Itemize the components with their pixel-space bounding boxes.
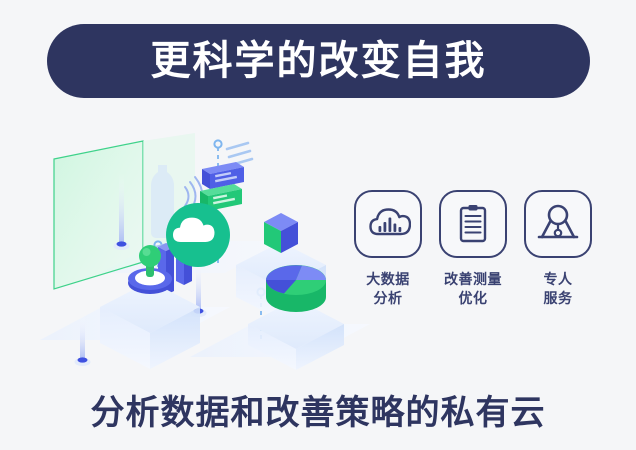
page-title: 更科学的改变自我 [151, 41, 487, 81]
feature-label-line2: 服务 [544, 289, 573, 308]
feature-label-line2: 优化 [444, 289, 502, 308]
glass-pedestal-left [100, 281, 200, 369]
feature-label-big-data: 大数据 分析 [366, 270, 410, 308]
page-tagline: 分析数据和改善策略的私有云 [0, 385, 636, 434]
feature-item-support[interactable]: 专人 服务 [522, 190, 594, 330]
feature-label-line1: 大数据 [366, 270, 410, 289]
data-tag-blue [202, 162, 244, 189]
feature-label-line1: 专人 [544, 270, 573, 289]
feature-label-support: 专人 服务 [544, 270, 573, 308]
feature-badge-measurement[interactable] [439, 190, 507, 258]
support-person-icon [535, 201, 581, 247]
header-banner: 更科学的改变自我 [47, 24, 590, 98]
feature-item-measurement[interactable]: 改善测量 优化 [437, 190, 509, 330]
poster-canvas: 更科学的改变自我 [0, 0, 636, 450]
feature-label-line2: 分析 [366, 289, 410, 308]
pie-chart-3d [266, 265, 326, 312]
feature-label-measurement: 改善测量 优化 [444, 270, 502, 308]
feature-label-line1: 改善测量 [444, 270, 502, 289]
feature-badge-big-data[interactable] [354, 190, 422, 258]
cloud-bar-chart-icon [365, 201, 411, 247]
teal-cloud-circle [166, 203, 230, 267]
clipboard-icon [450, 201, 496, 247]
isometric-illustration [40, 125, 370, 370]
feature-item-big-data[interactable]: 大数据 分析 [352, 190, 424, 330]
feature-list: 大数据 分析 改善测量 优化 [352, 190, 594, 330]
feature-badge-support[interactable] [524, 190, 592, 258]
